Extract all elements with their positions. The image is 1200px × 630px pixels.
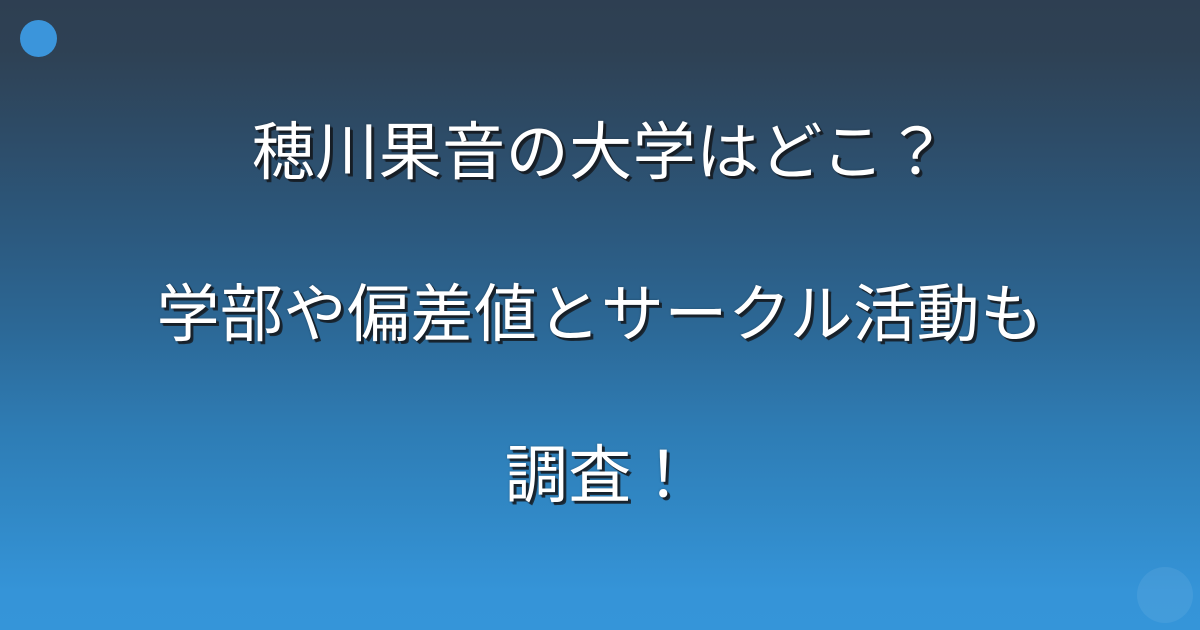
title-line-2: 学部や偏差値とサークル活動も (40, 275, 1160, 356)
page-title: 穂川果音の大学はどこ？ 学部や偏差値とサークル活動も 調査！ (40, 33, 1160, 597)
title-block: 穂川果音の大学はどこ？ 学部や偏差値とサークル活動も 調査！ (0, 0, 1200, 630)
og-title-card: 穂川果音の大学はどこ？ 学部や偏差値とサークル活動も 調査！ (0, 0, 1200, 630)
title-line-3: 調査！ (40, 436, 1160, 517)
title-line-1: 穂川果音の大学はどこ？ (40, 113, 1160, 194)
